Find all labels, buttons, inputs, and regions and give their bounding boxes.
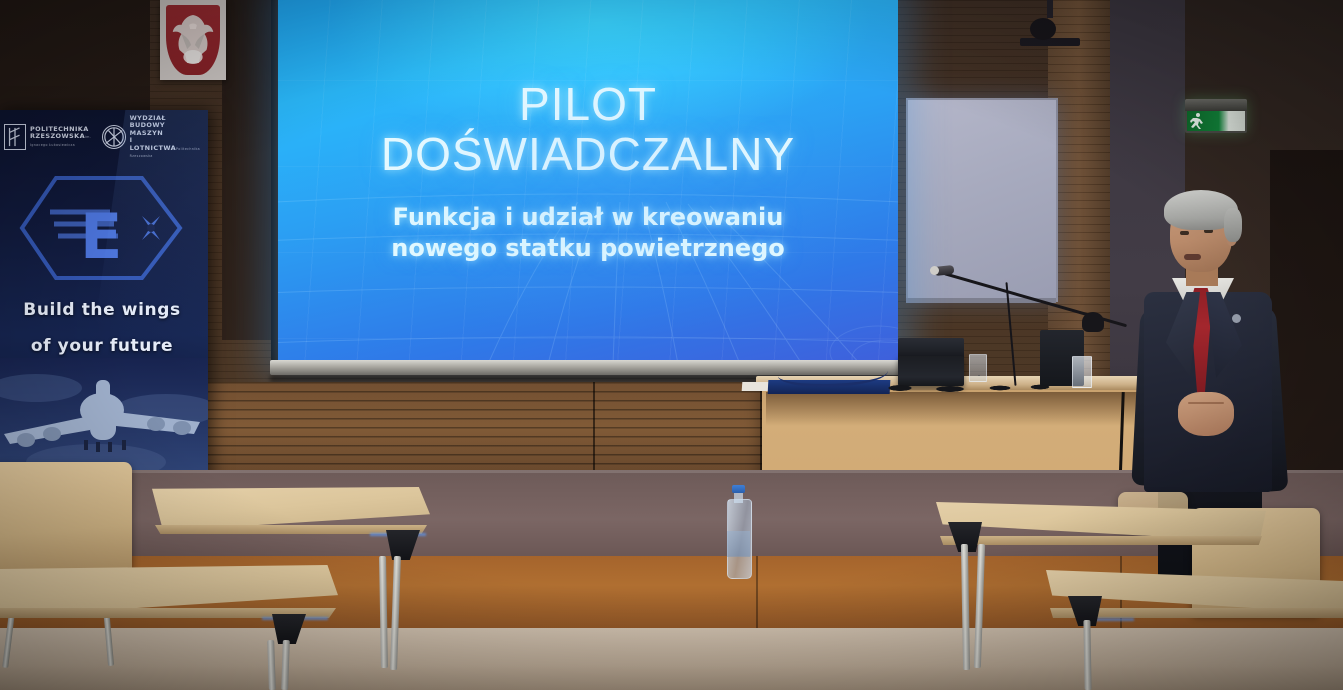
- water-bottle: [727, 485, 750, 577]
- slide-subtitle: Funkcja i udział w kreowaniu nowego stat…: [278, 202, 898, 264]
- desk-cables: [880, 382, 1060, 394]
- polish-coat-of-arms-icon: [160, 0, 226, 80]
- speaker-hands: [1178, 392, 1234, 436]
- microphone-base: [1082, 312, 1104, 332]
- slide-subtitle-line2: nowego statku powietrznego: [391, 234, 785, 262]
- ceiling-camera-icon: [1020, 12, 1080, 44]
- lapel-pin-icon: [1232, 314, 1241, 323]
- running-man-icon: [1187, 112, 1209, 130]
- rollup-banner: POLITECHNIKA RZESZOWSKAim. Ignacego Łuka…: [0, 110, 208, 485]
- university-logo-text: POLITECHNIKA RZESZOWSKAim. Ignacego Łuka…: [30, 126, 94, 149]
- slide-title-line1: PILOT: [278, 79, 898, 129]
- slide-title-line2: DOŚWIADCZALNY: [278, 129, 898, 179]
- slide-title: PILOT DOŚWIADCZALNY: [278, 79, 898, 179]
- slide-background-arcs: [278, 0, 898, 364]
- drinking-glass: [969, 354, 987, 382]
- projection-screen: PILOT DOŚWIADCZALNY Funkcja i udział w k…: [278, 0, 898, 386]
- table-leg: [1083, 620, 1091, 690]
- lecture-hall-scene: PILOT DOŚWIADCZALNY Funkcja i udział w k…: [0, 0, 1343, 690]
- microphone-windscreen-icon: [930, 266, 939, 275]
- slide-subtitle-line1: Funkcja i udział w kreowaniu: [393, 203, 784, 231]
- emergency-exit-sign: [1185, 99, 1247, 133]
- bottle-cap: [732, 485, 745, 493]
- chair[interactable]: [0, 462, 132, 574]
- slide-surface: PILOT DOŚWIADCZALNY Funkcja i udział w k…: [278, 0, 898, 364]
- politechnika-mark-icon: [4, 124, 26, 150]
- floor: [0, 628, 1343, 690]
- university-logo: POLITECHNIKA RZESZOWSKAim. Ignacego Łuka…: [4, 124, 94, 150]
- slat-seam: [593, 382, 595, 474]
- white-eagle-icon: [166, 5, 220, 75]
- whiteboard: [906, 98, 1058, 302]
- drinking-glass-secondary: [1072, 356, 1092, 388]
- university-logo-name: POLITECHNIKA RZESZOWSKA: [30, 125, 89, 141]
